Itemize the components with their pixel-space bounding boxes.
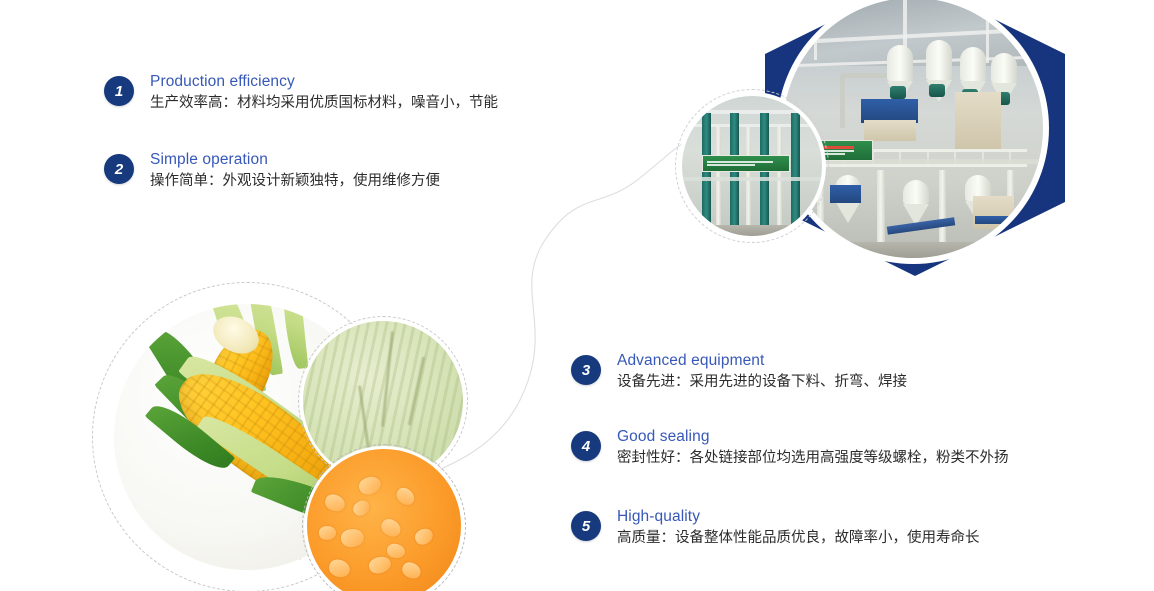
feature-item-5: 5 High-quality 高质量：设备整体性能品质优良，故障率小，使用寿命长 (571, 511, 980, 549)
feature-desc-5: 高质量：设备整体性能品质优良，故障率小，使用寿命长 (617, 528, 980, 549)
feature-badge-4: 4 (571, 431, 601, 461)
feature-badge-2: 2 (104, 154, 134, 184)
feature-badge-3: 3 (571, 355, 601, 385)
feature-title-4: Good sealing (617, 427, 1009, 447)
feature-desc-2: 操作简单：外观设计新颖独特，使用维修方便 (150, 171, 440, 192)
feature-item-2: 2 Simple operation 操作简单：外观设计新颖独特，使用维修方便 (104, 154, 440, 192)
feature-title-1: Production efficiency (150, 72, 498, 92)
hexagon-small-photo (678, 92, 826, 240)
feature-title-3: Advanced equipment (617, 351, 907, 371)
feature-desc-4: 密封性好：各处链接部位均选用高强度等级螺栓，粉类不外扬 (617, 448, 1009, 469)
feature-badge-1: 1 (104, 76, 134, 106)
feature-text-5: High-quality 高质量：设备整体性能品质优良，故障率小，使用寿命长 (617, 507, 980, 549)
hexagon-photo-cluster (660, 0, 1154, 270)
corn-grits-photo (304, 446, 464, 591)
feature-text-3: Advanced equipment 设备先进：采用先进的设备下料、折弯、焊接 (617, 351, 907, 393)
feature-desc-1: 生产效率高：材料均采用优质国标材料，噪音小，节能 (150, 93, 498, 114)
corn-photo-cluster (92, 282, 482, 591)
feature-title-5: High-quality (617, 507, 980, 527)
feature-item-4: 4 Good sealing 密封性好：各处链接部位均选用高强度等级螺栓，粉类不… (571, 431, 1009, 469)
feature-desc-3: 设备先进：采用先进的设备下料、折弯、焊接 (617, 372, 907, 393)
infographic-canvas: 1 Production efficiency 生产效率高：材料均采用优质国标材… (0, 0, 1154, 591)
feature-item-3: 3 Advanced equipment 设备先进：采用先进的设备下料、折弯、焊… (571, 355, 907, 393)
feature-text-2: Simple operation 操作简单：外观设计新颖独特，使用维修方便 (150, 150, 440, 192)
feature-badge-5: 5 (571, 511, 601, 541)
feature-title-2: Simple operation (150, 150, 440, 170)
feature-text-4: Good sealing 密封性好：各处链接部位均选用高强度等级螺栓，粉类不外扬 (617, 427, 1009, 469)
feature-item-1: 1 Production efficiency 生产效率高：材料均采用优质国标材… (104, 76, 498, 114)
feature-text-1: Production efficiency 生产效率高：材料均采用优质国标材料，… (150, 72, 498, 114)
